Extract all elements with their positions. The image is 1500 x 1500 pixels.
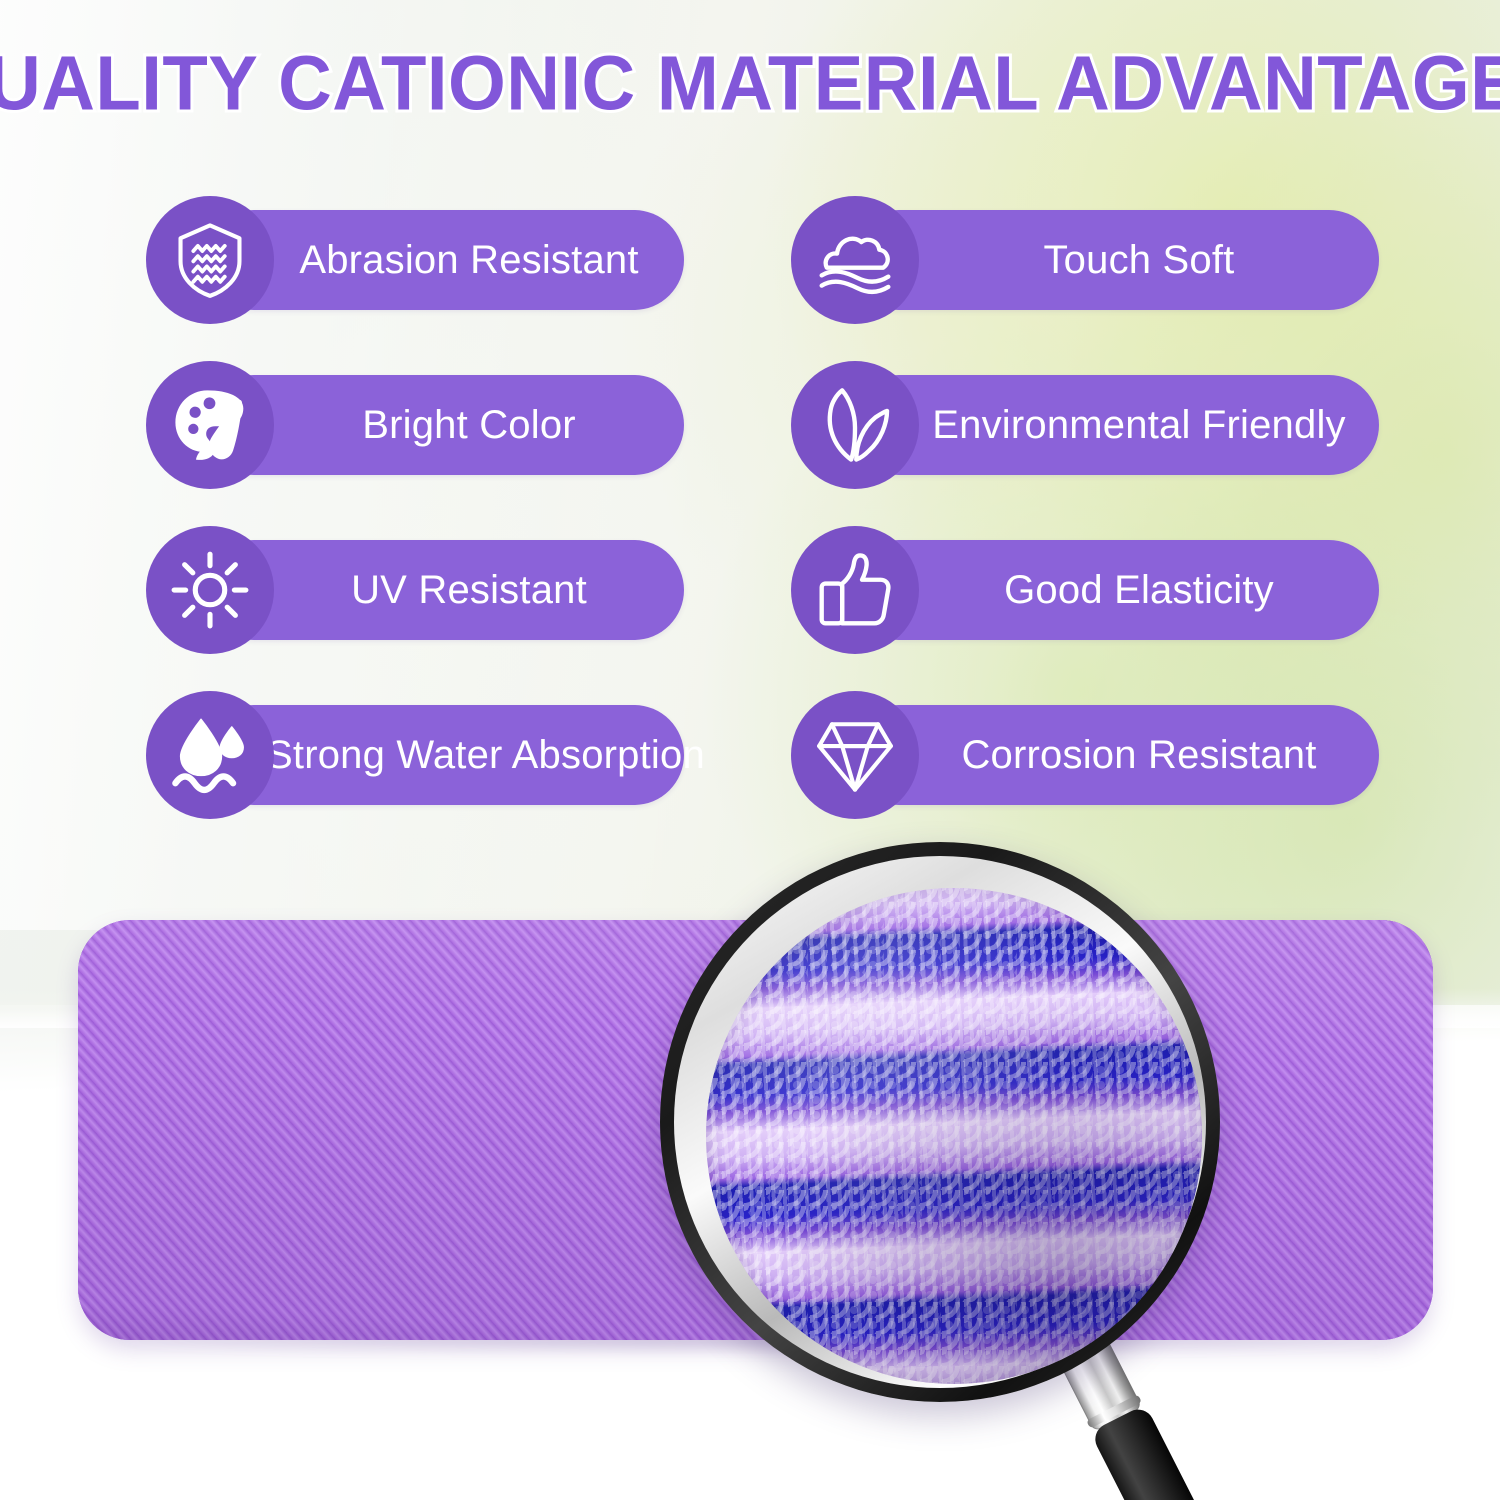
- feature-label: Environmental Friendly: [849, 405, 1379, 445]
- water-drop-icon: [146, 691, 274, 819]
- shield-waves-icon: [146, 196, 274, 324]
- feature-item-touch-soft[interactable]: Touch Soft: [791, 196, 1386, 326]
- feature-label: Abrasion Resistant: [204, 240, 684, 280]
- cloud-icon: [791, 196, 919, 324]
- leaves-icon: [791, 361, 919, 489]
- feature-pill[interactable]: Good Elasticity: [849, 540, 1379, 640]
- thumbs-up-icon: [791, 526, 919, 654]
- product-scene: [0, 820, 1500, 1500]
- feature-item-abrasion-resistant[interactable]: Abrasion Resistant: [146, 196, 791, 326]
- feature-item-good-elasticity[interactable]: Good Elasticity: [791, 526, 1386, 656]
- magnifier-chrome-ring: [674, 856, 1206, 1388]
- feature-label: UV Resistant: [204, 570, 684, 610]
- feature-pill[interactable]: Abrasion Resistant: [204, 210, 684, 310]
- magnifier-outer-rim: [660, 842, 1220, 1402]
- paint-palette-icon: [146, 361, 274, 489]
- magnifying-glass: [660, 842, 1220, 1402]
- page-title: QUALITY CATIONIC MATERIAL ADVANTAGES: [0, 48, 1500, 120]
- feature-pill[interactable]: Environmental Friendly: [849, 375, 1379, 475]
- feature-pill[interactable]: Bright Color: [204, 375, 684, 475]
- feature-pill[interactable]: Strong Water Absorption: [204, 705, 684, 805]
- feature-item-environmental-friendly[interactable]: Environmental Friendly: [791, 361, 1386, 491]
- feature-pill[interactable]: Touch Soft: [849, 210, 1379, 310]
- feature-label: Touch Soft: [849, 240, 1379, 280]
- feature-label: Good Elasticity: [849, 570, 1379, 610]
- feature-item-uv-resistant[interactable]: UV Resistant: [146, 526, 791, 656]
- feature-pill[interactable]: UV Resistant: [204, 540, 684, 640]
- feature-label: Bright Color: [204, 405, 684, 445]
- feature-label: Corrosion Resistant: [849, 735, 1379, 775]
- magnifier-lens-glare: [706, 888, 1202, 1384]
- magnifier-lens-zoomed-fabric: [706, 888, 1202, 1384]
- feature-label: Strong Water Absorption: [204, 735, 684, 775]
- feature-item-corrosion-resistant[interactable]: Corrosion Resistant: [791, 691, 1386, 821]
- page-title-text: QUALITY CATIONIC MATERIAL ADVANTAGES: [0, 40, 1500, 128]
- feature-pill[interactable]: Corrosion Resistant: [849, 705, 1379, 805]
- diamond-icon: [791, 691, 919, 819]
- feature-item-bright-color[interactable]: Bright Color: [146, 361, 791, 491]
- feature-item-strong-water-absorption[interactable]: Strong Water Absorption: [146, 691, 791, 821]
- sun-icon: [146, 526, 274, 654]
- feature-grid: Abrasion Resistant Touch Soft B: [146, 196, 1386, 856]
